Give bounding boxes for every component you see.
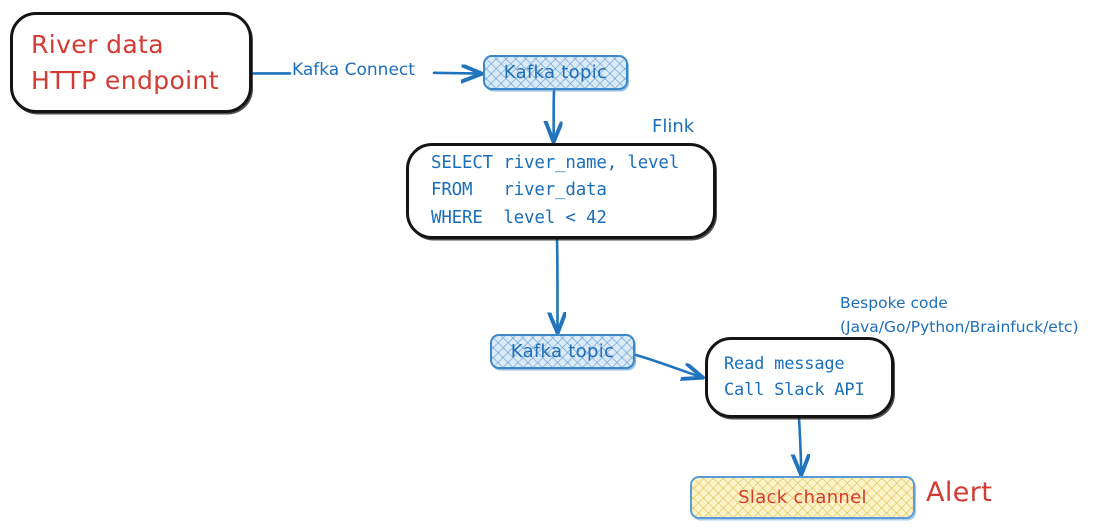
sql-line-3: WHERE level < 42: [431, 205, 607, 233]
code-line-2: Call Slack API: [724, 378, 865, 404]
node-slack-channel[interactable]: Slack channel: [690, 476, 915, 519]
edge-code-to-slack: [799, 418, 801, 473]
annotation-bespoke-code: Bespoke code (Java/Go/Python/Brainfuck/e…: [840, 291, 1079, 339]
source-line-1: River data: [31, 27, 164, 63]
sql-line-2: FROM river_data: [431, 177, 607, 205]
code-line-1: Read message: [724, 352, 844, 378]
slack-channel-label: Slack channel: [738, 487, 867, 508]
annotation-bespoke-code-line-1: Bespoke code: [840, 291, 1079, 315]
node-kafka-topic-2[interactable]: Kafka topic: [490, 334, 635, 369]
annotation-alert: Alert: [926, 477, 992, 508]
node-flink-sql[interactable]: SELECT river_name, level FROM river_data…: [406, 143, 716, 239]
node-kafka-topic-1[interactable]: Kafka topic: [483, 55, 628, 90]
annotation-bespoke-code-line-2: (Java/Go/Python/Brainfuck/etc): [840, 315, 1079, 339]
annotation-flink: Flink: [652, 116, 694, 137]
edge-flink-to-kafka2: [557, 240, 558, 331]
edge-kafka2-to-code: [636, 355, 701, 377]
kafka-topic-1-label: Kafka topic: [504, 62, 607, 83]
sql-line-1: SELECT river_name, level: [431, 150, 679, 178]
edge-label-kafka-connect: Kafka Connect: [292, 60, 415, 80]
node-bespoke-code[interactable]: Read message Call Slack API: [705, 337, 894, 418]
source-line-2: HTTP endpoint: [31, 63, 219, 99]
kafka-topic-2-label: Kafka topic: [511, 341, 614, 362]
node-river-data-source[interactable]: River data HTTP endpoint: [10, 12, 252, 113]
